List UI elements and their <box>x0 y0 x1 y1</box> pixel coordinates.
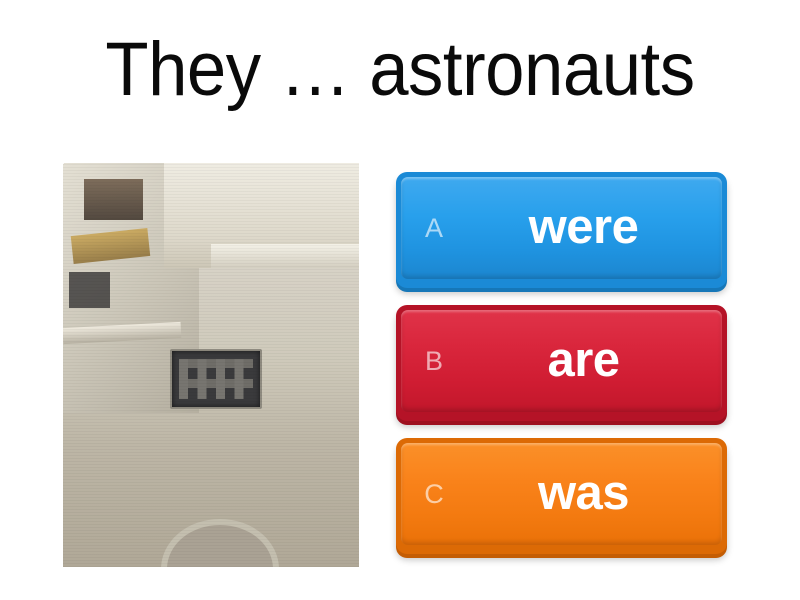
cabin-switch-panel <box>170 349 263 410</box>
answer-text-b: are <box>464 336 727 385</box>
answer-option-b[interactable]: B are <box>396 305 727 421</box>
answer-letter-a: A <box>404 215 464 242</box>
cabin-locker <box>84 179 143 219</box>
quiz-slide: They … astronauts <box>0 0 800 600</box>
answer-text-c: was <box>464 469 727 518</box>
astronauts-photo <box>63 163 359 567</box>
page-title: They … astronauts <box>28 22 772 118</box>
answer-letter-b: B <box>404 348 464 375</box>
answer-text-a: were <box>464 203 727 252</box>
answer-letter-c: C <box>404 481 464 508</box>
answer-options: A were B are C was <box>396 172 727 562</box>
cabin-light-strip <box>211 244 359 268</box>
answer-option-a[interactable]: A were <box>396 172 727 288</box>
cabin-equipment-box <box>69 272 110 308</box>
question-image <box>63 163 359 567</box>
answer-option-c[interactable]: C was <box>396 438 727 554</box>
